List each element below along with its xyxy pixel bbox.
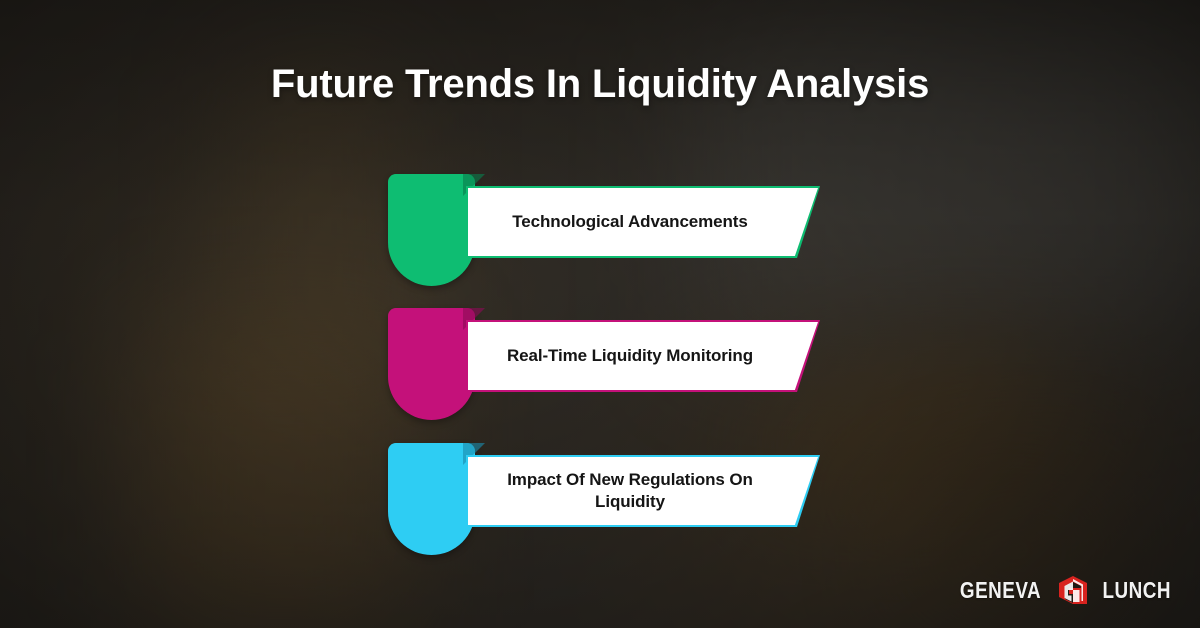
banner-surface-2: Real-Time Liquidity Monitoring	[468, 322, 818, 390]
banner-surface-1: Technological Advancements	[468, 188, 818, 256]
banner-3: Impact Of New Regulations On Liquidity	[388, 443, 818, 563]
banner-outline-3: Impact Of New Regulations On Liquidity	[466, 455, 820, 527]
banner-1: Technological Advancements	[388, 174, 818, 294]
list-item-label: Real-Time Liquidity Monitoring	[507, 345, 753, 367]
list-item[interactable]: Real-Time Liquidity Monitoring	[388, 308, 818, 428]
brand-g-icon	[1058, 575, 1088, 605]
list-item[interactable]: Impact Of New Regulations On Liquidity	[388, 443, 818, 563]
brand-logo[interactable]: GENEVA LUNCH	[951, 574, 1178, 606]
list-item[interactable]: Technological Advancements	[388, 174, 818, 294]
banner-outline-1: Technological Advancements	[466, 186, 820, 258]
list-item-label: Impact Of New Regulations On Liquidity	[488, 469, 772, 514]
page-title: Future Trends In Liquidity Analysis	[0, 62, 1200, 107]
banner-2: Real-Time Liquidity Monitoring	[388, 308, 818, 428]
banner-surface-3: Impact Of New Regulations On Liquidity	[468, 457, 818, 525]
infographic-canvas: Future Trends In Liquidity Analysis Tech…	[0, 0, 1200, 628]
brand-word-left: GENEVA	[960, 577, 1041, 604]
brand-word-right: LUNCH	[1102, 577, 1170, 604]
banner-outline-2: Real-Time Liquidity Monitoring	[466, 320, 820, 392]
list-item-label: Technological Advancements	[512, 211, 747, 233]
